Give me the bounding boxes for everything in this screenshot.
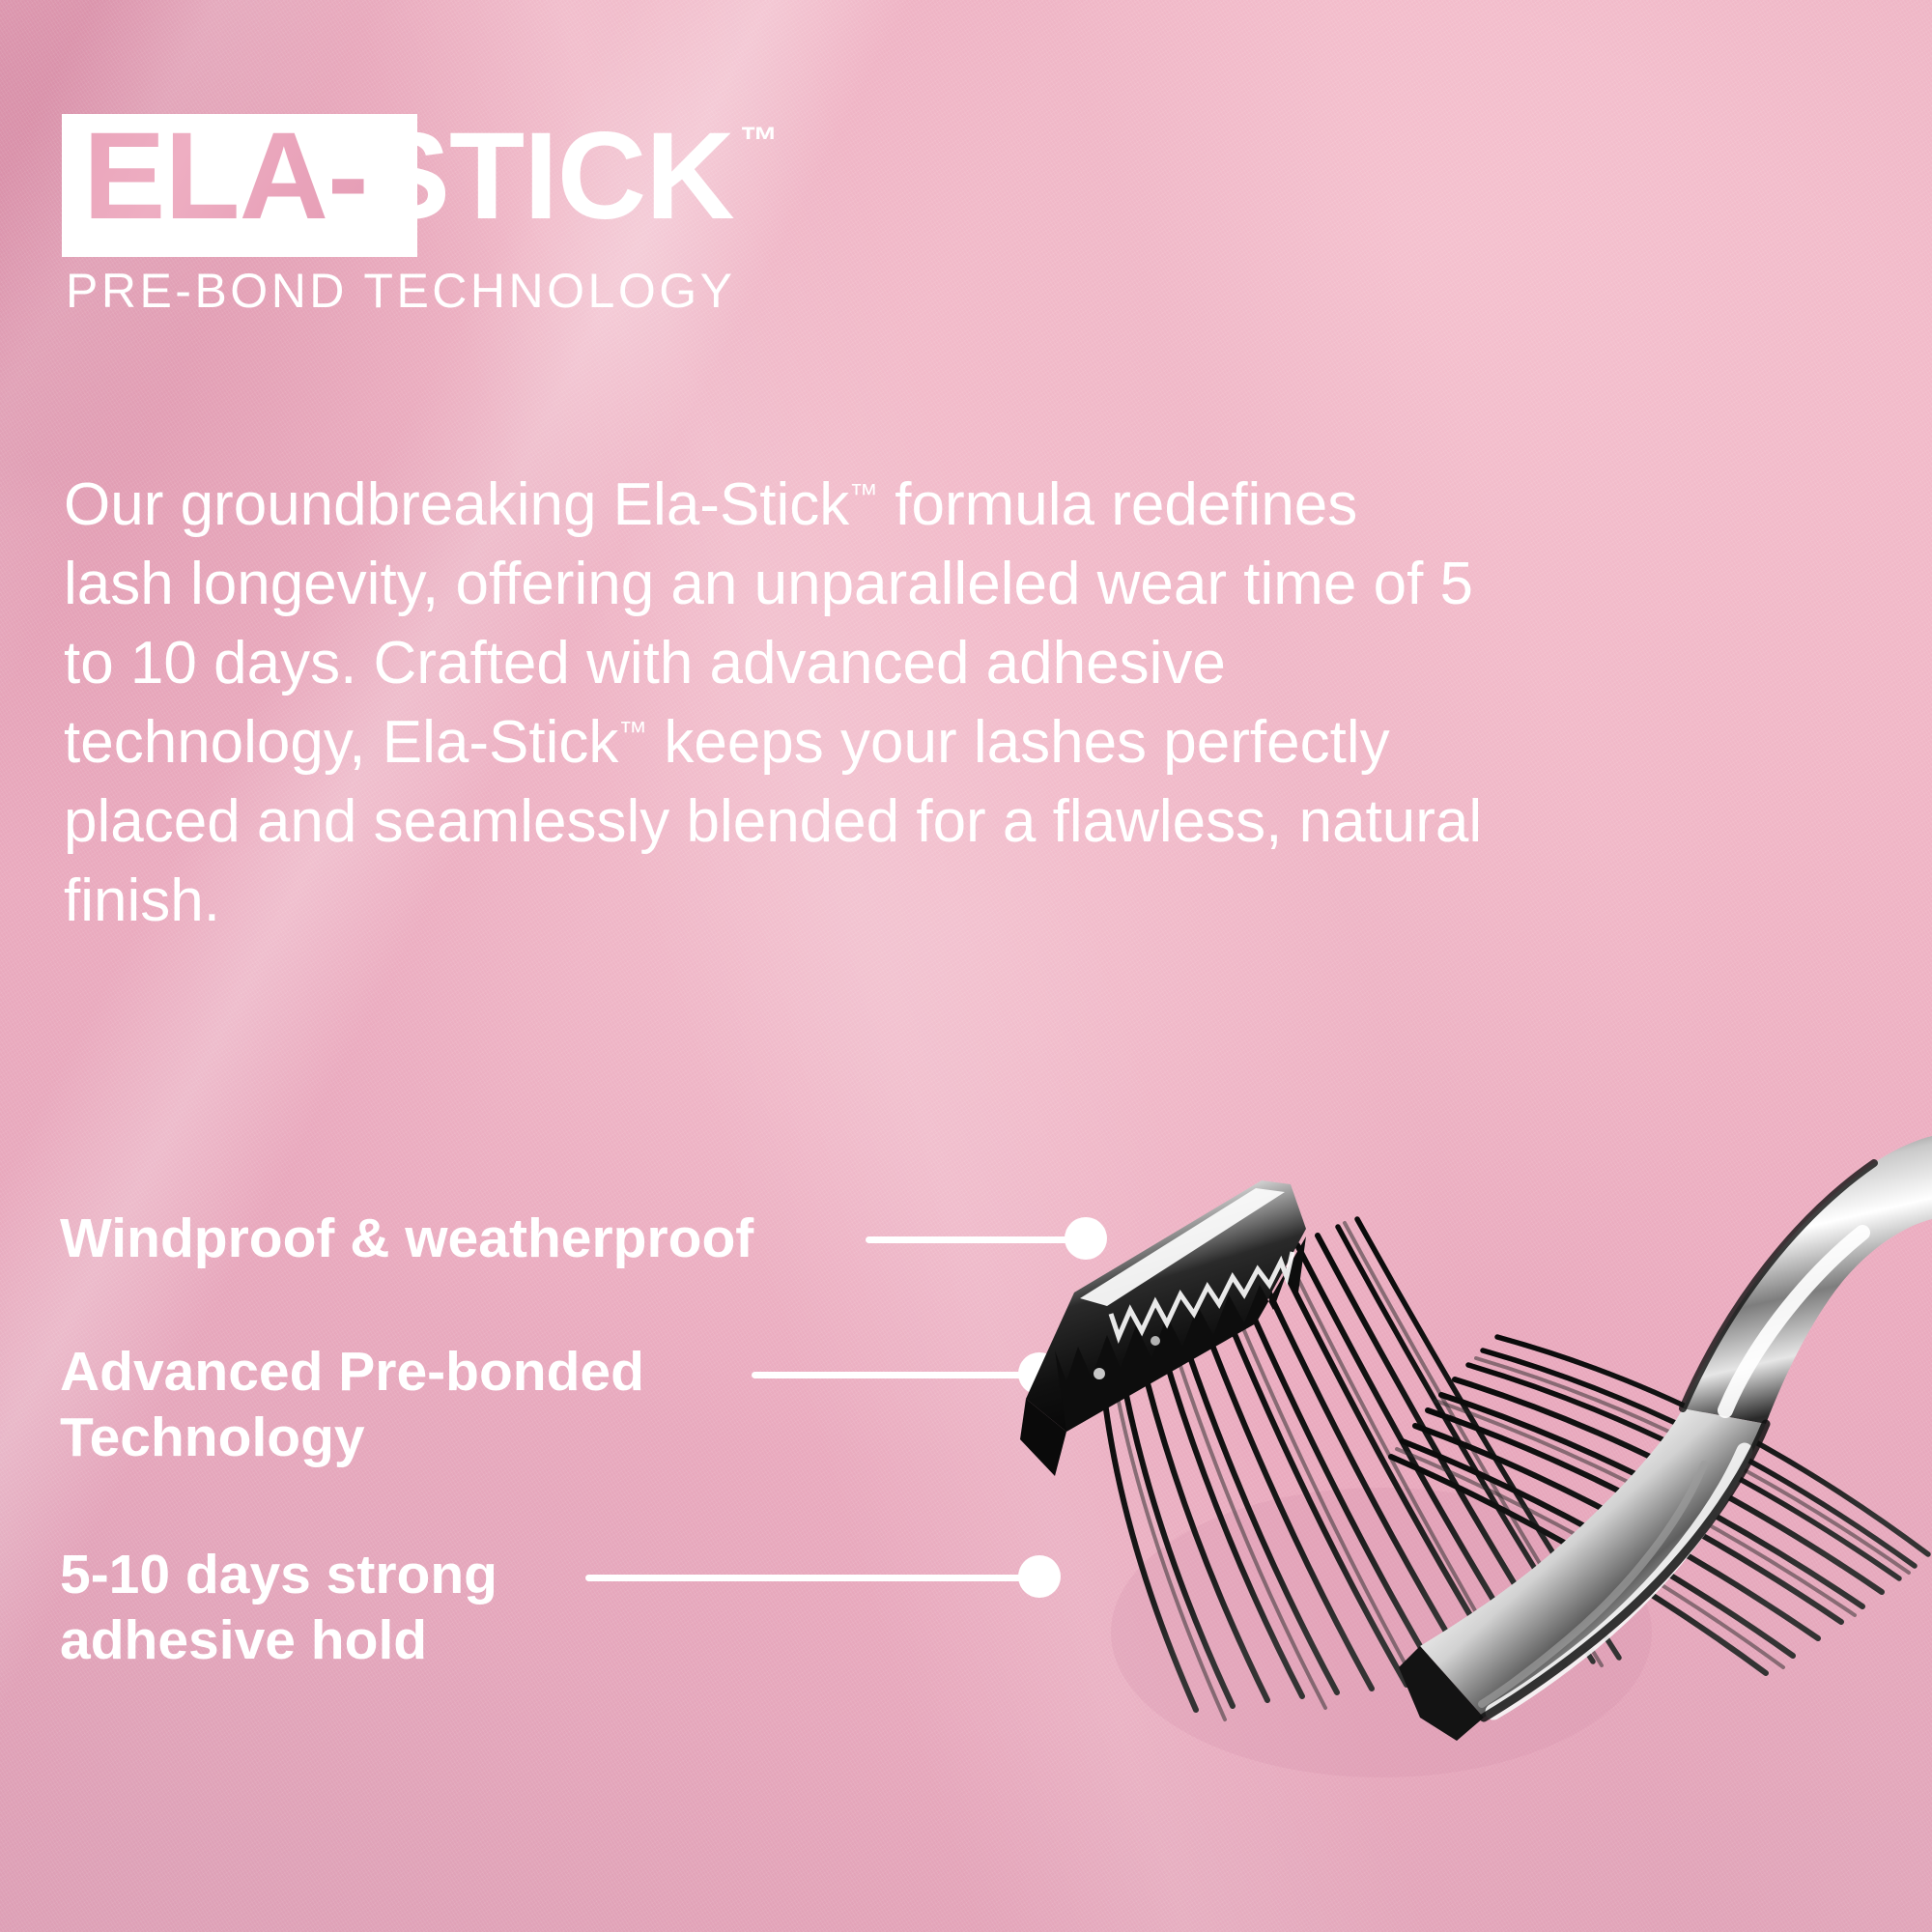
- trademark-symbol-inline-1: ™: [849, 478, 878, 510]
- feature-label: Windproof & weatherproof: [60, 1206, 753, 1271]
- connector-rule: [585, 1575, 1032, 1581]
- body-paragraph: Our groundbreaking Ela-Stick™ formula re…: [64, 466, 1484, 941]
- trademark-symbol: ™: [740, 122, 779, 160]
- trademark-symbol-inline-2: ™: [618, 716, 647, 748]
- product-feature-poster: ELA- STICK ™ PRE-BOND TECHNOLOGY Our gro…: [0, 0, 1932, 1932]
- brand-logo-line: ELA- STICK ™: [62, 104, 779, 249]
- paragraph-part-1: Our groundbreaking Ela-Stick: [64, 471, 849, 538]
- brand-logo-open-text: STICK: [368, 104, 734, 249]
- product-image-lash-and-tweezer: [966, 1092, 1932, 1932]
- brand-logo-wordmark: ELA- STICK ™: [62, 104, 779, 249]
- feature-label: 5-10 days strong adhesive hold: [60, 1542, 497, 1673]
- feature-label: Advanced Pre-bonded Technology: [60, 1339, 644, 1470]
- brand-subtitle: PRE-BOND TECHNOLOGY: [66, 263, 735, 319]
- brand-logo: ELA- STICK ™: [62, 104, 779, 249]
- brand-logo-knockout-text: ELA-: [62, 104, 368, 249]
